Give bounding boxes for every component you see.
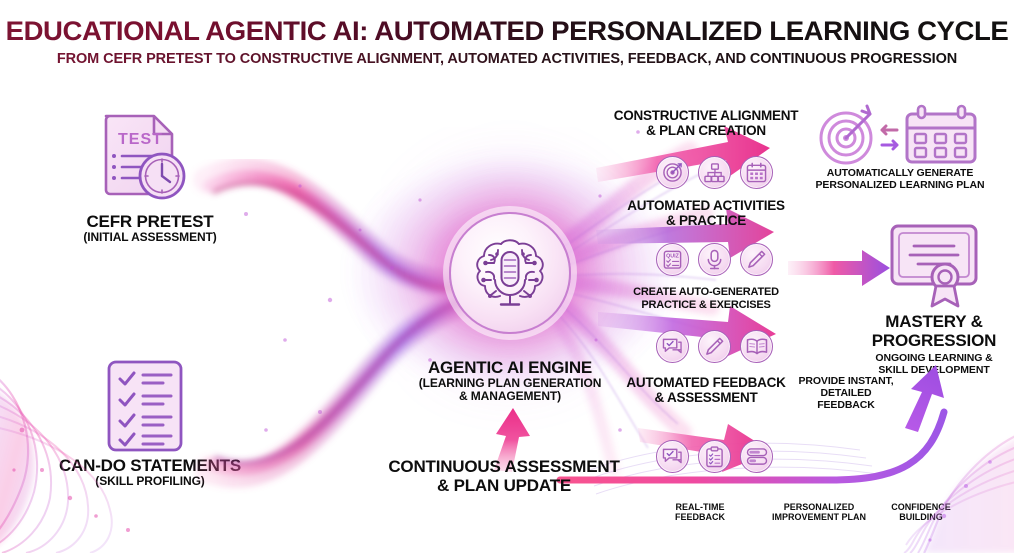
target-bullseye-icon[interactable] (656, 156, 689, 189)
certificate-award-icon (888, 222, 980, 313)
provide-instant-feedback-label: PROVIDE INSTANT, DETAILED FEEDBACK (788, 376, 904, 411)
arrow-to-mastery (788, 250, 890, 286)
page-title: EDUCATIONAL AGENTIC AI: AUTOMATED PERSON… (0, 16, 1014, 47)
agentic-ai-engine-orb (449, 212, 571, 334)
personalized-learning-plan-caption: AUTOMATICALLY GENERATE PERSONALIZED LEAR… (790, 168, 1010, 192)
pif-line1: PROVIDE INSTANT, (788, 376, 904, 388)
engine-subtitle-1: (LEARNING PLAN GENERATION (398, 377, 622, 390)
branch2-sub2: PRACTICE & EXERCISES (606, 299, 806, 312)
branch-automated-feedback-title: AUTOMATED FEEDBACK & ASSESSMENT (608, 375, 804, 406)
plp-cap2: PERSONALIZED LEARNING PLAN (790, 180, 1010, 192)
branch-constructive-alignment-icons (656, 156, 773, 189)
cefr-pretest-label: CEFR PRETEST (INITIAL ASSESSMENT) (40, 212, 260, 244)
pencil-edit-icon[interactable] (698, 330, 731, 363)
personalized-learning-plan-icons (812, 104, 982, 171)
mastery-line1: MASTERY & (856, 312, 1012, 331)
open-book-icon[interactable] (740, 330, 773, 363)
cefr-pretest-subtitle: (INITIAL ASSESSMENT) (40, 231, 260, 244)
ca-line2: & PLAN UPDATE (388, 476, 620, 495)
hierarchy-chart-icon[interactable] (698, 156, 731, 189)
engine-label: AGENTIC AI ENGINE (LEARNING PLAN GENERAT… (398, 358, 622, 404)
calendar-icon[interactable] (740, 156, 773, 189)
pif-line2: DETAILED (788, 388, 904, 400)
chat-check-icon[interactable] (656, 440, 689, 473)
infographic-canvas: EDUCATIONAL AGENTIC AI: AUTOMATED PERSON… (0, 0, 1014, 553)
branch-automated-activities-subtitle: CREATE AUTO-GENERATED PRACTICE & EXERCIS… (606, 286, 806, 311)
chat-check-icon[interactable] (656, 330, 689, 363)
can-do-subtitle: (SKILL PROFILING) (30, 475, 270, 488)
exchange-arrows-icon (882, 126, 897, 149)
branch1-line1: CONSTRUCTIVE ALIGNMENT (608, 108, 804, 123)
feedback-label-real-time: REAL-TIME FEEDBACK (640, 502, 760, 522)
branch-automated-activities-title: AUTOMATED ACTIVITIES & PRACTICE (608, 198, 804, 229)
pif-line3: FEEDBACK (788, 400, 904, 412)
engine-subtitle-2: & MANAGEMENT) (398, 390, 622, 403)
cefr-pretest-title: CEFR PRETEST (40, 212, 260, 231)
quiz-clipboard-icon[interactable]: QUIZ (656, 243, 689, 276)
branch-automated-activities-icons: QUIZ (656, 243, 773, 276)
mastery-line2: PROGRESSION (856, 331, 1012, 350)
brain-circuit-microphone-icon (467, 230, 553, 316)
mastery-progression-label: MASTERY & PROGRESSION ONGOING LEARNING &… (856, 312, 1012, 377)
cb-line2: BUILDING (866, 512, 976, 522)
engine-title: AGENTIC AI ENGINE (398, 358, 622, 377)
svg-text:TEST: TEST (118, 131, 163, 148)
target-arrow-icon (821, 106, 871, 163)
test-document-clock-icon: TEST (100, 112, 192, 207)
branch-automated-feedback-icons (656, 330, 773, 363)
branch-constructive-alignment-title: CONSTRUCTIVE ALIGNMENT & PLAN CREATION (608, 108, 804, 139)
branch1-line2: & PLAN CREATION (608, 123, 804, 138)
cb-line1: CONFIDENCE (866, 502, 976, 512)
continuous-assessment-label: CONTINUOUS ASSESSMENT & PLAN UPDATE (388, 457, 620, 495)
rt-line1: REAL-TIME (640, 502, 760, 512)
feedback-row-icons (656, 440, 773, 473)
microphone-icon[interactable] (698, 243, 731, 276)
ca-line1: CONTINUOUS ASSESSMENT (388, 457, 620, 476)
branch2-line1: AUTOMATED ACTIVITIES (608, 198, 804, 213)
pencil-edit-icon[interactable] (740, 243, 773, 276)
header: EDUCATIONAL AGENTIC AI: AUTOMATED PERSON… (0, 16, 1014, 67)
page-subtitle: FROM CEFR PRETEST TO CONSTRUCTIVE ALIGNM… (0, 51, 1014, 67)
svg-text:QUIZ: QUIZ (666, 254, 679, 260)
branch3-line1: AUTOMATED FEEDBACK (608, 375, 804, 390)
branch2-line2: & PRACTICE (608, 213, 804, 228)
rt-line2: FEEDBACK (640, 512, 760, 522)
can-do-statements-label: CAN-DO STATEMENTS (SKILL PROFILING) (30, 456, 270, 488)
branch3-line2: & ASSESSMENT (608, 390, 804, 405)
branch2-sub1: CREATE AUTO-GENERATED (606, 286, 806, 299)
progress-bars-icon[interactable] (740, 440, 773, 473)
clipboard-checklist-icon[interactable] (698, 440, 731, 473)
calendar-grid-icon (907, 106, 975, 162)
checklist-document-icon (105, 358, 185, 459)
feedback-label-confidence: CONFIDENCE BUILDING (866, 502, 976, 522)
